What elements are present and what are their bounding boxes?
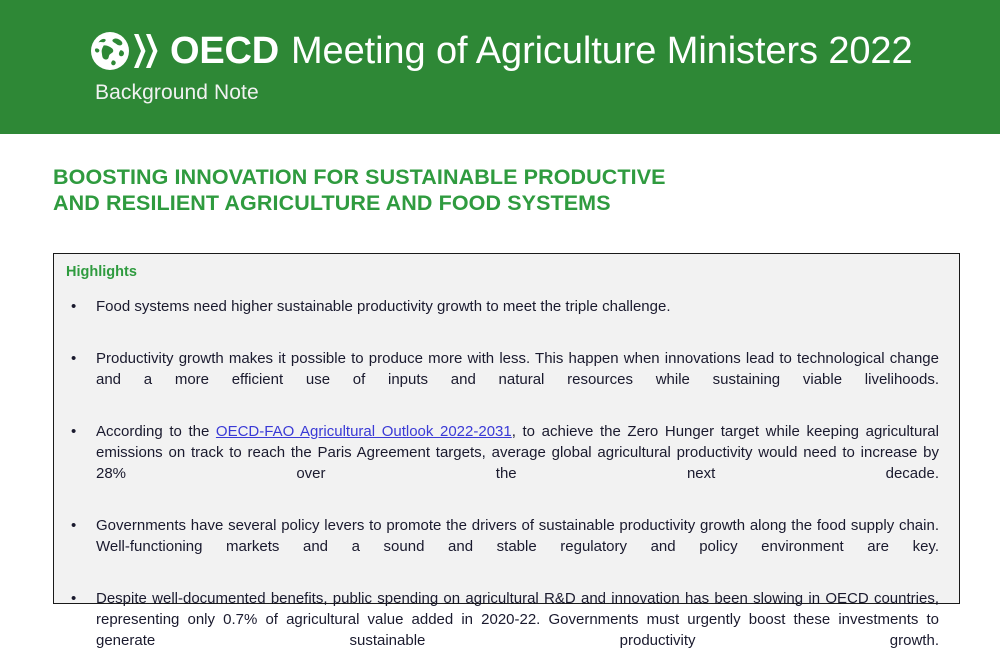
list-item-text: According to the OECD-FAO Agricultural O…	[96, 421, 939, 505]
page-title-line-2: AND RESILIENT AGRICULTURE AND FOOD SYSTE…	[53, 190, 853, 216]
list-item: • Governments have several policy levers…	[54, 515, 956, 578]
bullet-icon: •	[71, 421, 81, 442]
list-item-text: Productivity growth makes it possible to…	[96, 348, 939, 411]
bullet-icon: •	[71, 515, 81, 536]
list-item: • Food systems need higher sustainable p…	[54, 296, 956, 338]
brand-row: OECD Meeting of Agriculture Ministers 20…	[90, 27, 913, 75]
list-item: • Productivity growth makes it possible …	[54, 348, 956, 411]
oecd-globe-logo-icon	[90, 30, 166, 72]
bullet-icon: •	[71, 296, 81, 317]
highlights-box: Highlights • Food systems need higher su…	[53, 253, 960, 604]
page-title-line-1: BOOSTING INNOVATION FOR SUSTAINABLE PROD…	[53, 164, 853, 190]
list-item-text: Governments have several policy levers t…	[96, 515, 939, 578]
header-title-oecd: OECD	[170, 32, 279, 70]
header-title-rest: Meeting of Agriculture Ministers 2022	[291, 32, 913, 70]
bullet-icon: •	[71, 348, 81, 369]
list-item: • Despite well-documented benefits, publ…	[54, 588, 956, 672]
oecd-fao-outlook-link[interactable]: OECD-FAO Agricultural Outlook 2022-2031	[216, 423, 512, 440]
list-item: • According to the OECD-FAO Agricultural…	[54, 421, 956, 505]
page-title: BOOSTING INNOVATION FOR SUSTAINABLE PROD…	[53, 164, 853, 216]
list-item-text: Food systems need higher sustainable pro…	[96, 296, 939, 338]
highlights-heading: Highlights	[66, 265, 137, 280]
header-title: OECD Meeting of Agriculture Ministers 20…	[170, 32, 913, 70]
page-header-banner: OECD Meeting of Agriculture Ministers 20…	[0, 0, 1000, 134]
bullet-icon: •	[71, 588, 81, 609]
list-item-text: Despite well-documented benefits, public…	[96, 588, 939, 672]
highlights-bullet-list: • Food systems need higher sustainable p…	[54, 296, 961, 672]
header-subtitle: Background Note	[95, 82, 259, 103]
list-item-text-before-link: According to the	[96, 423, 216, 440]
